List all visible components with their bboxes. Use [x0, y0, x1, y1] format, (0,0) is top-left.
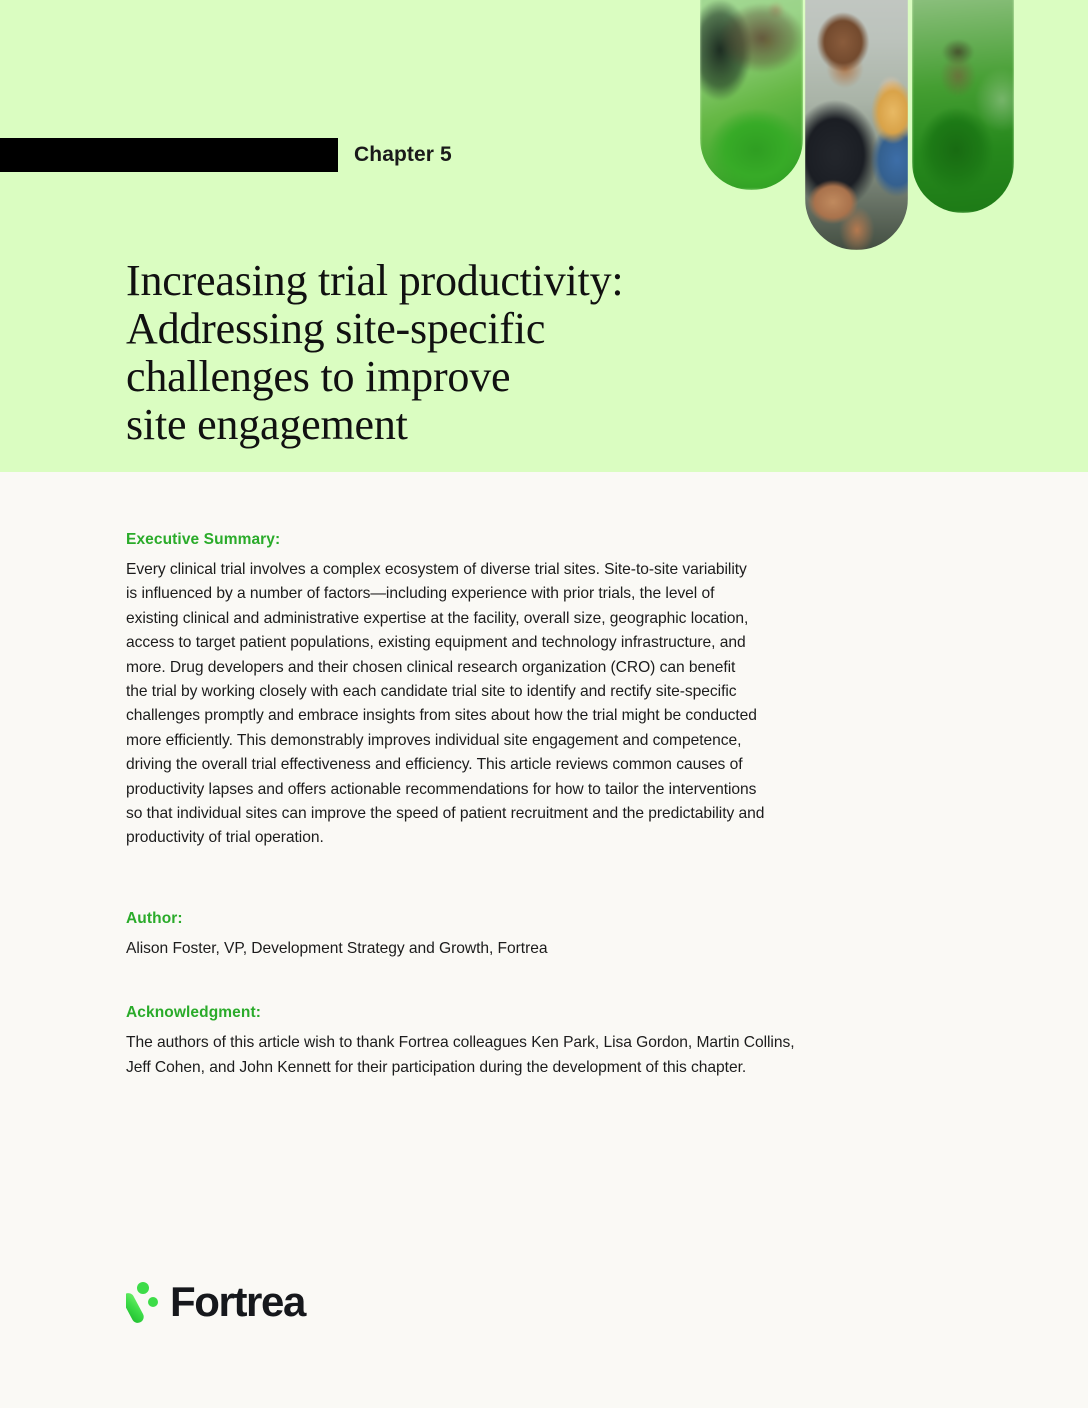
photo-1-image: [700, 0, 803, 190]
paragraph-line: Alison Foster, VP, Development Strategy …: [126, 937, 922, 961]
photo-2-image: [805, 0, 908, 250]
photo-3-image: [912, 0, 1014, 213]
paragraph-line: is influenced by a number of factors—inc…: [126, 582, 922, 606]
paragraph-line: existing clinical and administrative exp…: [126, 607, 922, 631]
acknowledgment-heading: Acknowledgment:: [126, 1003, 922, 1023]
paragraph-line: The authors of this article wish to than…: [126, 1031, 922, 1055]
paragraph-line: productivity lapses and offers actionabl…: [126, 778, 922, 802]
author-section: Author: Alison Foster, VP, Development S…: [126, 909, 922, 961]
paragraph-line: challenges promptly and embrace insights…: [126, 704, 922, 728]
page-title-line: challenges to improve: [126, 353, 826, 401]
chapter-label: Chapter 5: [354, 140, 452, 170]
acknowledgment-text: The authors of this article wish to than…: [126, 1031, 922, 1080]
photo-collage: [700, 0, 1020, 260]
author-text: Alison Foster, VP, Development Strategy …: [126, 937, 922, 961]
page-title-line: site engagement: [126, 401, 826, 449]
fortrea-logo: Fortrea: [126, 1278, 305, 1326]
page-title-line: Addressing site-specific: [126, 305, 826, 353]
paragraph-line: so that individual sites can improve the…: [126, 802, 922, 826]
executive-summary-section: Executive Summary: Every clinical trial …: [126, 530, 922, 851]
paragraph-line: Every clinical trial involves a complex …: [126, 558, 922, 582]
executive-summary-heading: Executive Summary:: [126, 530, 922, 550]
paragraph-line: more efficiently. This demonstrably impr…: [126, 729, 922, 753]
acknowledgment-section: Acknowledgment: The authors of this arti…: [126, 1003, 922, 1080]
chapter-redaction-bar: [0, 138, 338, 172]
man-in-office-photo: [912, 0, 1014, 213]
paragraph-line: access to target patient populations, ex…: [126, 631, 922, 655]
header-band: Chapter 5 Increasing trial productivity:…: [0, 0, 1088, 472]
page-title: Increasing trial productivity: Addressin…: [126, 257, 826, 449]
smiling-man-and-colleagues-photo: [805, 0, 908, 250]
document-body: Executive Summary: Every clinical trial …: [126, 530, 922, 1080]
paragraph-line: productivity of trial operation.: [126, 826, 922, 850]
paragraph-line: the trial by working closely with each c…: [126, 680, 922, 704]
executive-summary-text: Every clinical trial involves a complex …: [126, 558, 922, 851]
woman-in-discussion-photo: [700, 0, 803, 190]
paragraph-line: more. Drug developers and their chosen c…: [126, 656, 922, 680]
author-heading: Author:: [126, 909, 922, 929]
paragraph-line: Jeff Cohen, and John Kennett for their p…: [126, 1056, 922, 1080]
page-title-line: Increasing trial productivity:: [126, 257, 826, 305]
fortrea-wordmark: Fortrea: [170, 1280, 305, 1324]
paragraph-line: driving the overall trial effectiveness …: [126, 753, 922, 777]
fortrea-leaf-mark-icon: [126, 1280, 160, 1324]
